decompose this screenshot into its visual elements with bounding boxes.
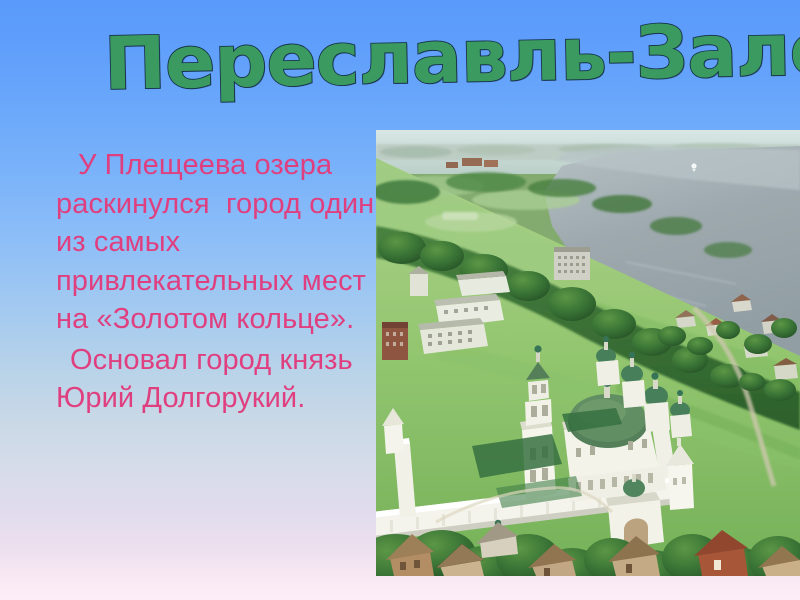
page-title: Переславль-Залесский — [103, 4, 709, 112]
body-paragraph-2: Основал город князь Юрий Долгорукий. — [56, 341, 386, 418]
slide: Переславль-Залесский У Плещеева озера ра… — [0, 0, 800, 600]
aerial-photo-graphic — [376, 130, 800, 576]
aerial-photo: Аэрофотоснимок Переславля-Залесского: Го… — [376, 130, 800, 576]
body-text-block: У Плещеева озера раскинулся город один и… — [56, 146, 386, 418]
body-paragraph-1: У Плещеева озера раскинулся город один и… — [56, 146, 386, 339]
title-container: Переславль-Залесский — [104, 18, 674, 114]
